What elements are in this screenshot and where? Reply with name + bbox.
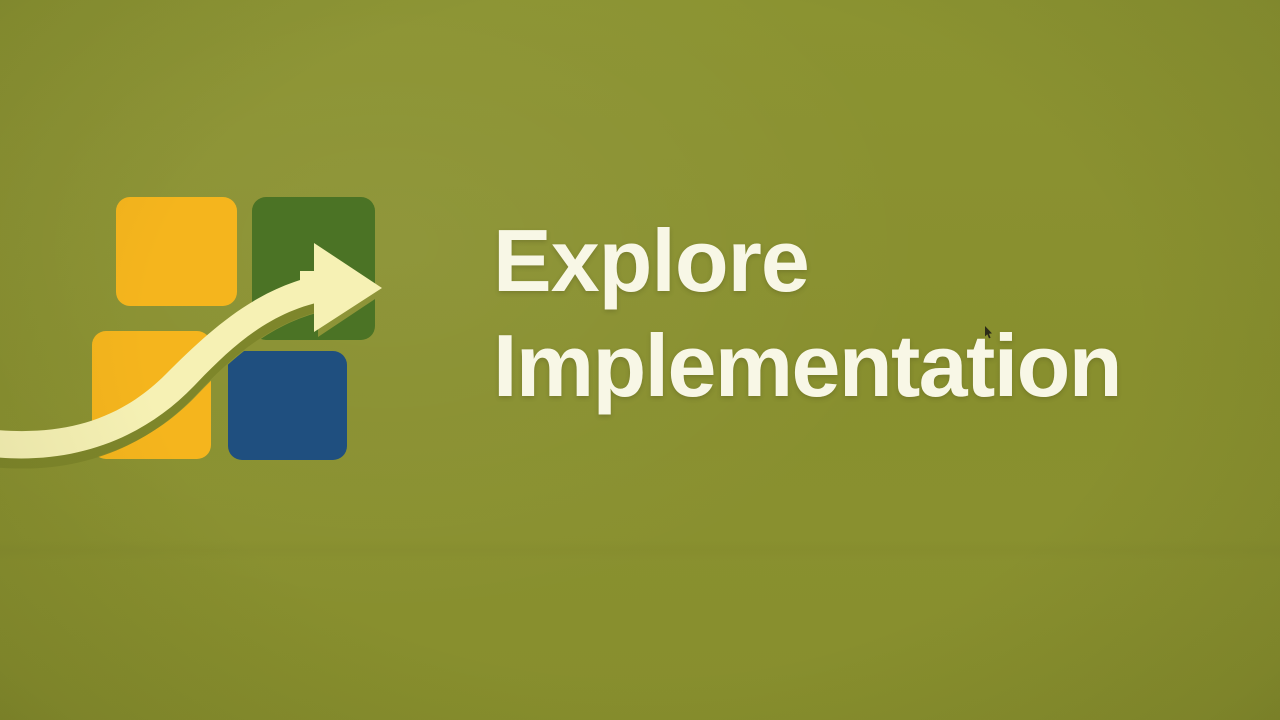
page-title: Explore Implementation: [493, 208, 1193, 418]
background-band: [0, 540, 1280, 570]
arrow-neck: [300, 271, 328, 301]
slide-canvas: Explore Implementation: [0, 0, 1280, 720]
logo-square-bottom-right: [228, 351, 347, 460]
title-line-1: Explore: [493, 208, 1193, 313]
title-line-2: Implementation: [493, 313, 1193, 418]
logo: [0, 140, 470, 490]
logo-square-top-left: [116, 197, 237, 306]
